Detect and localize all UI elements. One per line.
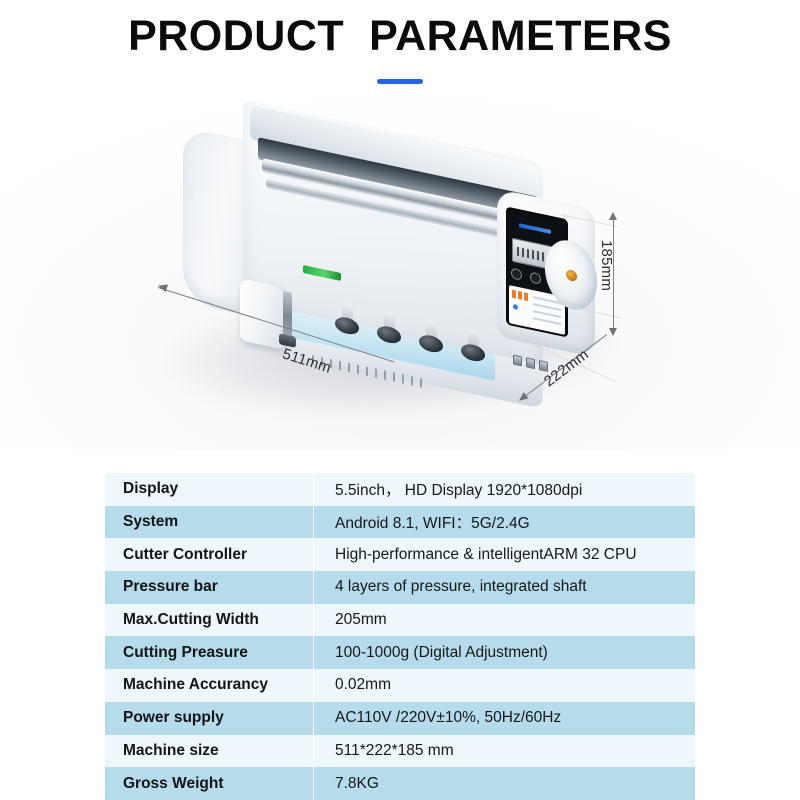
spec-label: Pressure bar <box>105 578 313 596</box>
table-row: Machine size511*222*185 mm <box>105 735 695 768</box>
table-row: Power supplyAC110V /220V±10%, 50Hz/60Hz <box>105 702 695 735</box>
table-row: SystemAndroid 8.1, WIFI：5G/2.4G <box>105 506 695 539</box>
cutting-plotter-illustration <box>0 95 800 450</box>
spec-label: Cutter Controller <box>105 546 313 564</box>
spec-label: Cutting Preasure <box>105 644 313 662</box>
ui-status-dot <box>513 304 518 310</box>
spec-value: 511*222*185 mm <box>314 742 695 760</box>
table-row: Pressure bar4 layers of pressure, integr… <box>105 571 695 604</box>
knob-center-screw <box>566 269 578 281</box>
height-arrow-head-bottom <box>609 328 617 336</box>
pressure-roller <box>377 309 403 345</box>
pressure-roller <box>419 318 445 354</box>
specification-table: Display5.5inch， HD Display 1920*1080dpiS… <box>105 473 695 800</box>
ui-list-line <box>533 317 561 325</box>
title-accent-underline <box>377 79 423 84</box>
spec-label: Gross Weight <box>105 775 313 793</box>
brand-logo <box>519 223 551 234</box>
spec-value: 205mm <box>314 611 695 629</box>
ui-list-line <box>533 303 561 311</box>
table-row: Cutting Preasure100-1000g (Digital Adjus… <box>105 636 695 669</box>
page-header: PRODUCT PARAMETERS <box>0 10 800 84</box>
lcd-content-bars <box>517 247 547 262</box>
pressure-roller <box>461 327 487 363</box>
usb-port <box>513 355 522 367</box>
spec-value: 7.8KG <box>314 775 695 793</box>
power-button-icon <box>511 267 522 280</box>
spec-label: System <box>105 513 313 531</box>
spec-value: 0.02mm <box>314 676 695 694</box>
usb-port <box>526 357 535 369</box>
spec-label: Machine size <box>105 742 313 760</box>
spec-label: Power supply <box>105 709 313 727</box>
table-row: Max.Cutting Width205mm <box>105 604 695 637</box>
spec-value: 100-1000g (Digital Adjustment) <box>314 644 695 662</box>
spec-value: Android 8.1, WIFI：5G/2.4G <box>314 511 695 533</box>
spec-label: Machine Accurancy <box>105 676 313 694</box>
table-row: Gross Weight7.8KG <box>105 767 695 800</box>
spec-value: 4 layers of pressure, integrated shaft <box>314 578 695 596</box>
product-parameters-page: PRODUCT PARAMETERS <box>0 0 800 800</box>
page-title: PRODUCT PARAMETERS <box>0 10 800 62</box>
table-row: Machine Accurancy0.02mm <box>105 669 695 702</box>
usb-port <box>539 360 548 372</box>
product-photo <box>0 95 800 450</box>
height-arrow-head-top <box>609 212 617 220</box>
table-row: Cutter ControllerHigh-performance & inte… <box>105 538 695 571</box>
ui-list-line <box>533 310 561 318</box>
spec-label: Display <box>105 480 313 498</box>
pressure-roller <box>335 300 361 336</box>
table-row: Display5.5inch， HD Display 1920*1080dpi <box>105 473 695 506</box>
spec-value: High-performance & intelligentARM 32 CPU <box>314 546 695 564</box>
ui-orange-tiles <box>512 290 528 301</box>
height-dimension-label: 185mm <box>598 240 615 291</box>
spec-value: 5.5inch， HD Display 1920*1080dpi <box>314 478 695 500</box>
spec-label: Max.Cutting Width <box>105 611 313 629</box>
info-button-icon <box>530 272 541 285</box>
spec-value: AC110V /220V±10%, 50Hz/60Hz <box>314 709 695 727</box>
